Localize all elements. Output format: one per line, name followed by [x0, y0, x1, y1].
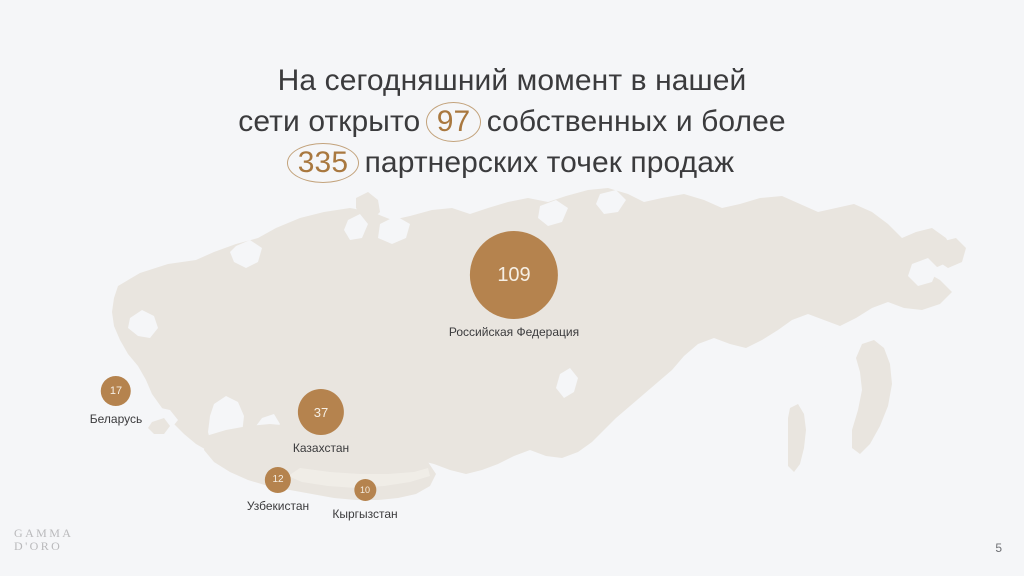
- map-marker[interactable]: 10Кыргызстан: [332, 479, 397, 521]
- map-marker[interactable]: 12Узбекистан: [247, 467, 309, 513]
- title-line-2-prefix: сети открыто: [238, 105, 420, 138]
- title-line-3: 335 партнерских точек продаж: [0, 142, 1024, 183]
- map-silhouette: [0, 168, 1024, 528]
- marker-label: Кыргызстан: [332, 508, 397, 521]
- page-title: На сегодняшний момент в нашей сети откры…: [0, 60, 1024, 183]
- title-line-1: На сегодняшний момент в нашей: [0, 60, 1024, 101]
- marker-bubble[interactable]: 109: [470, 231, 558, 319]
- marker-label: Беларусь: [90, 413, 142, 426]
- title-line-3-suffix: партнерских точек продаж: [365, 146, 735, 179]
- map-marker[interactable]: 17Беларусь: [90, 376, 142, 426]
- marker-bubble[interactable]: 37: [298, 389, 344, 435]
- highlight-partner-points: 335: [291, 142, 355, 183]
- logo-line-2: D'ORO: [14, 540, 73, 553]
- marker-label: Казахстан: [293, 442, 349, 455]
- marker-label: Узбекистан: [247, 500, 309, 513]
- title-line-2: сети открыто 97 собственных и более: [0, 101, 1024, 142]
- slide-canvas: На сегодняшний момент в нашей сети откры…: [0, 0, 1024, 576]
- marker-bubble[interactable]: 17: [101, 376, 131, 406]
- marker-label: Российская Федерация: [449, 326, 579, 339]
- highlight-own-points: 97: [430, 101, 478, 142]
- page-number: 5: [995, 541, 1002, 555]
- marker-bubble[interactable]: 10: [354, 479, 376, 501]
- map-marker[interactable]: 109Российская Федерация: [449, 231, 579, 339]
- title-line-2-suffix: собственных и более: [487, 105, 786, 138]
- map-marker[interactable]: 37Казахстан: [293, 389, 349, 455]
- marker-bubble[interactable]: 12: [265, 467, 291, 493]
- brand-logo: GAMMA D'ORO: [14, 527, 73, 553]
